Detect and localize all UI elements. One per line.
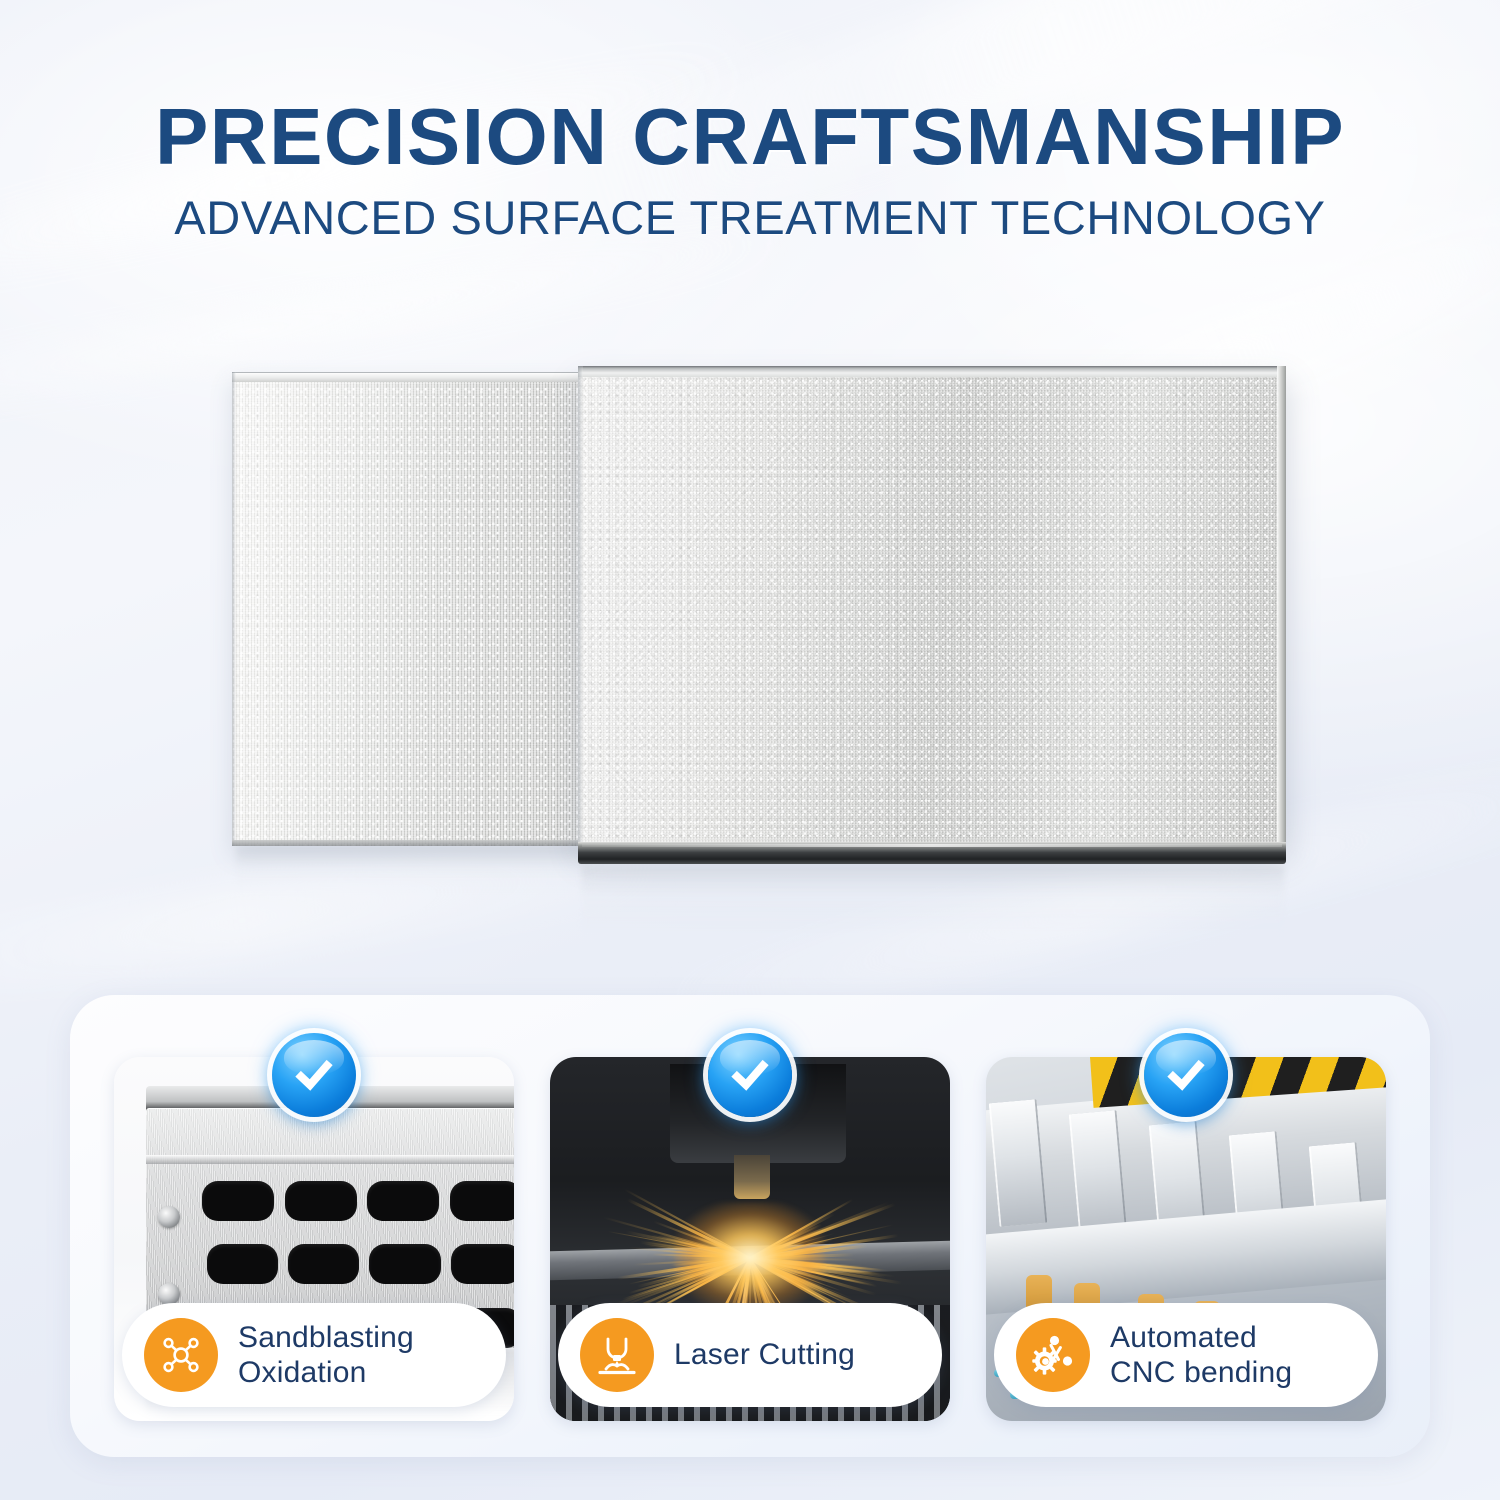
plate-right-edge <box>1277 366 1286 844</box>
vent-slot <box>288 1244 359 1284</box>
vent-slot <box>450 1181 514 1221</box>
vent-row <box>202 1244 514 1284</box>
plate-left-edge <box>578 366 583 844</box>
page-title: PRECISION CRAFTSMANSHIP <box>0 96 1500 178</box>
sandblasted-metal-plate-front <box>578 366 1286 844</box>
feature-card-list: Sandblasting Oxidation <box>114 1033 1386 1421</box>
plate-top-edge <box>232 372 590 382</box>
vent-slot <box>202 1181 274 1221</box>
vent-row <box>202 1181 514 1221</box>
vent-slot <box>285 1181 357 1221</box>
feature-card-cnc-bending[interactable]: Automated CNC bending <box>986 1033 1386 1421</box>
sandblasted-metal-plate-back <box>232 372 590 846</box>
label-line-1: Automated <box>1110 1321 1257 1354</box>
check-icon <box>272 1033 356 1117</box>
page-subtitle: ADVANCED SURFACE TREATMENT TECHNOLOGY <box>0 190 1500 245</box>
laser-head-icon <box>580 1318 654 1392</box>
plate-surface-texture <box>578 366 1286 844</box>
plate-reflection <box>236 847 588 893</box>
check-icon <box>708 1033 792 1117</box>
label-line-2: CNC bending <box>1110 1355 1292 1390</box>
check-icon <box>1144 1033 1228 1117</box>
feature-label-text: Sandblasting Oxidation <box>238 1320 414 1391</box>
plate-top-edge <box>578 366 1286 377</box>
feature-card-laser-cutting[interactable]: Laser Cutting <box>550 1033 950 1421</box>
molecule-icon <box>144 1318 218 1392</box>
plate-left-edge <box>232 372 236 846</box>
plate-reflection <box>582 866 1284 936</box>
feature-label-text: Laser Cutting <box>674 1337 855 1372</box>
spark-core-glow <box>675 1202 825 1312</box>
laser-nozzle <box>734 1155 770 1199</box>
plate-edge-highlight <box>582 844 1282 847</box>
product-infographic-page: PRECISION CRAFTSMANSHIP ADVANCED SURFACE… <box>0 0 1500 1500</box>
vent-slot <box>367 1181 439 1221</box>
headline-block: PRECISION CRAFTSMANSHIP ADVANCED SURFACE… <box>0 96 1500 245</box>
vent-slot <box>451 1244 514 1284</box>
gear-node-icon <box>1016 1318 1090 1392</box>
enclosure-rail <box>146 1155 514 1164</box>
feature-label-text: Automated CNC bending <box>1110 1320 1292 1391</box>
vent-slot <box>369 1244 440 1284</box>
label-line-1: Laser Cutting <box>674 1338 855 1371</box>
label-line-2: Oxidation <box>238 1355 414 1390</box>
feature-label-laser-cutting[interactable]: Laser Cutting <box>558 1303 942 1407</box>
feature-label-cnc-bending[interactable]: Automated CNC bending <box>994 1303 1378 1407</box>
vent-slot <box>207 1244 278 1284</box>
feature-panel: Sandblasting Oxidation <box>70 995 1430 1457</box>
label-line-1: Sandblasting <box>238 1321 414 1354</box>
plate-bottom-edge <box>232 840 590 846</box>
plate-surface-texture <box>232 372 590 846</box>
feature-card-sandblasting[interactable]: Sandblasting Oxidation <box>114 1033 514 1421</box>
feature-label-sandblasting[interactable]: Sandblasting Oxidation <box>122 1303 506 1407</box>
enclosure-screw <box>158 1283 180 1305</box>
